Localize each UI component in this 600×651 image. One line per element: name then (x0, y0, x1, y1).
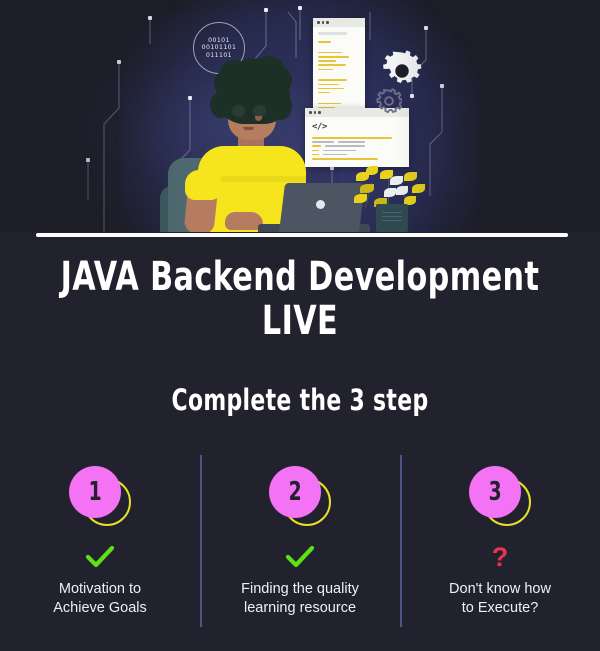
step-label: Don't know how to Execute? (449, 580, 551, 618)
step-item-3[interactable]: 3 ? Don't know how to Execute? (400, 452, 600, 637)
check-icon (285, 542, 315, 572)
step-disc: 3 (469, 466, 521, 518)
step-item-1[interactable]: 1 Motivation to Achieve Goals (0, 452, 200, 637)
check-icon (85, 542, 115, 572)
step-number: 2 (288, 479, 301, 505)
step-number: 3 (488, 479, 501, 505)
hero-illustration: 00101 00101101 011101 (0, 0, 600, 232)
hero-vignette (0, 0, 600, 232)
step-disc: 1 (69, 466, 121, 518)
step-disc: 2 (269, 466, 321, 518)
step-badge-1: 1 (69, 466, 131, 528)
question-icon: ? (492, 542, 509, 572)
header-divider (36, 233, 568, 237)
subtitle: Complete the 3 step (48, 384, 552, 416)
headline-line-1: JAVA Backend Development (48, 255, 552, 299)
question-icon-glyph: ? (492, 544, 509, 571)
check-icon-glyph (285, 545, 315, 569)
poster-root: 00101 00101101 011101 (0, 0, 600, 651)
step-item-2[interactable]: 2 Finding the quality learning resource (200, 452, 400, 637)
check-icon-glyph (85, 545, 115, 569)
headline-line-2: LIVE (48, 299, 552, 343)
step-label: Finding the quality learning resource (241, 580, 359, 618)
page-title: JAVA Backend Development LIVE (48, 255, 552, 343)
step-badge-2: 2 (269, 466, 331, 528)
step-label: Motivation to Achieve Goals (53, 580, 147, 618)
step-badge-3: 3 (469, 466, 531, 528)
steps-row: 1 Motivation to Achieve Goals 2 (0, 452, 600, 637)
step-number: 1 (88, 479, 101, 505)
